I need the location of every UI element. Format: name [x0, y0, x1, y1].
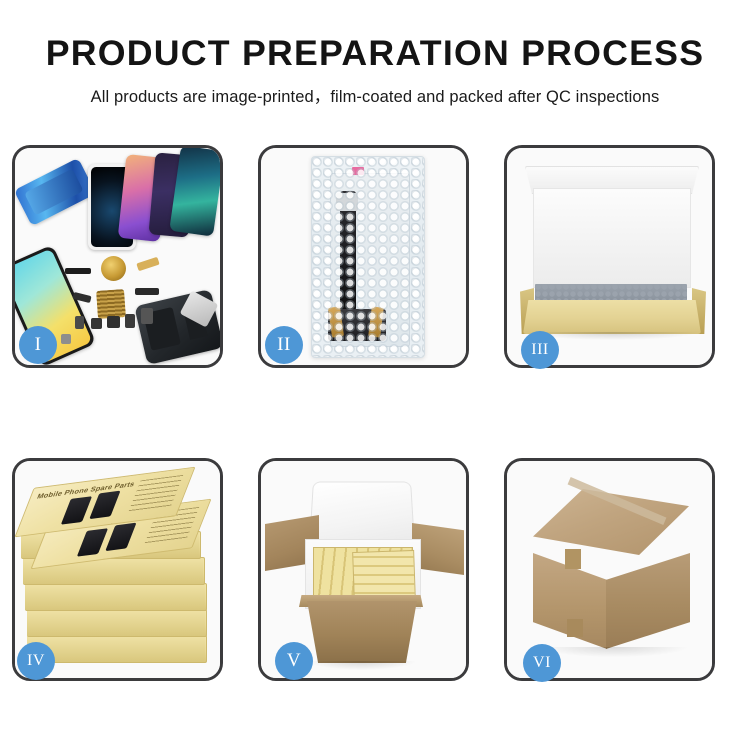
small-component-image: [91, 318, 102, 329]
step-panel-5[interactable]: V: [258, 458, 469, 681]
carton-shadow: [307, 661, 417, 670]
small-component-image: [107, 316, 120, 328]
box-thumbnail-image: [77, 528, 108, 557]
process-steps-grid: I II III: [12, 145, 738, 681]
carton-seam-image: [567, 619, 583, 637]
small-component-image: [125, 314, 135, 328]
step-panel-1[interactable]: I: [12, 145, 223, 368]
black-bar-part-image: [65, 268, 91, 274]
stacked-box-side: [27, 609, 207, 637]
box-spec-lines: [128, 475, 183, 512]
kraft-box-front-image: [523, 300, 701, 334]
small-component-image: [75, 316, 84, 329]
step-panel-6[interactable]: VI: [504, 458, 715, 681]
black-flex-cable-image: [135, 288, 159, 295]
carton-shadow: [541, 647, 687, 657]
small-component-image: [61, 334, 71, 344]
page-subtitle: All products are image-printed，film-coat…: [0, 83, 750, 107]
white-foam-sheet-image: [533, 188, 691, 288]
lcd-connector-image: [336, 193, 358, 211]
step-badge-2: II: [265, 326, 303, 364]
carton-front-image: [301, 601, 423, 663]
page-header: PRODUCT PREPARATION PROCESS All products…: [0, 0, 750, 107]
box-thumbnail-image: [89, 491, 120, 520]
packed-yellow-boxes-image: [352, 550, 416, 602]
gold-grid-chip-image: [96, 289, 126, 319]
step-badge-4: IV: [17, 642, 55, 680]
box-stack-image: Mobile Phone Spare Parts Mobile Phone Sp…: [19, 475, 219, 667]
step-panel-2[interactable]: II: [258, 145, 469, 368]
pink-label-tab-image: [352, 167, 364, 175]
gold-flex-cable-image: [136, 257, 159, 271]
carton-seam-image: [565, 549, 581, 569]
step-panel-4[interactable]: Mobile Phone Spare Parts Mobile Phone Sp…: [12, 458, 223, 681]
carton-right-face-image: [606, 553, 690, 649]
gold-coil-part-image: [101, 256, 126, 281]
box-thumbnail-image: [105, 523, 136, 552]
small-component-image: [141, 308, 153, 324]
step-badge-1: I: [19, 326, 57, 364]
step-badge-6: VI: [523, 644, 561, 682]
stacked-box-side: [25, 583, 207, 611]
step-panel-3[interactable]: III: [504, 145, 715, 368]
box-thumbnail-image: [61, 496, 92, 525]
bubble-wrap-bag-image: [311, 156, 425, 358]
blue-adhesive-part-image: [15, 158, 96, 226]
step-badge-3: III: [521, 331, 559, 369]
step-badge-5: V: [275, 642, 313, 680]
page-title: PRODUCT PREPARATION PROCESS: [0, 36, 750, 73]
styrofoam-lid-image: [309, 482, 415, 547]
